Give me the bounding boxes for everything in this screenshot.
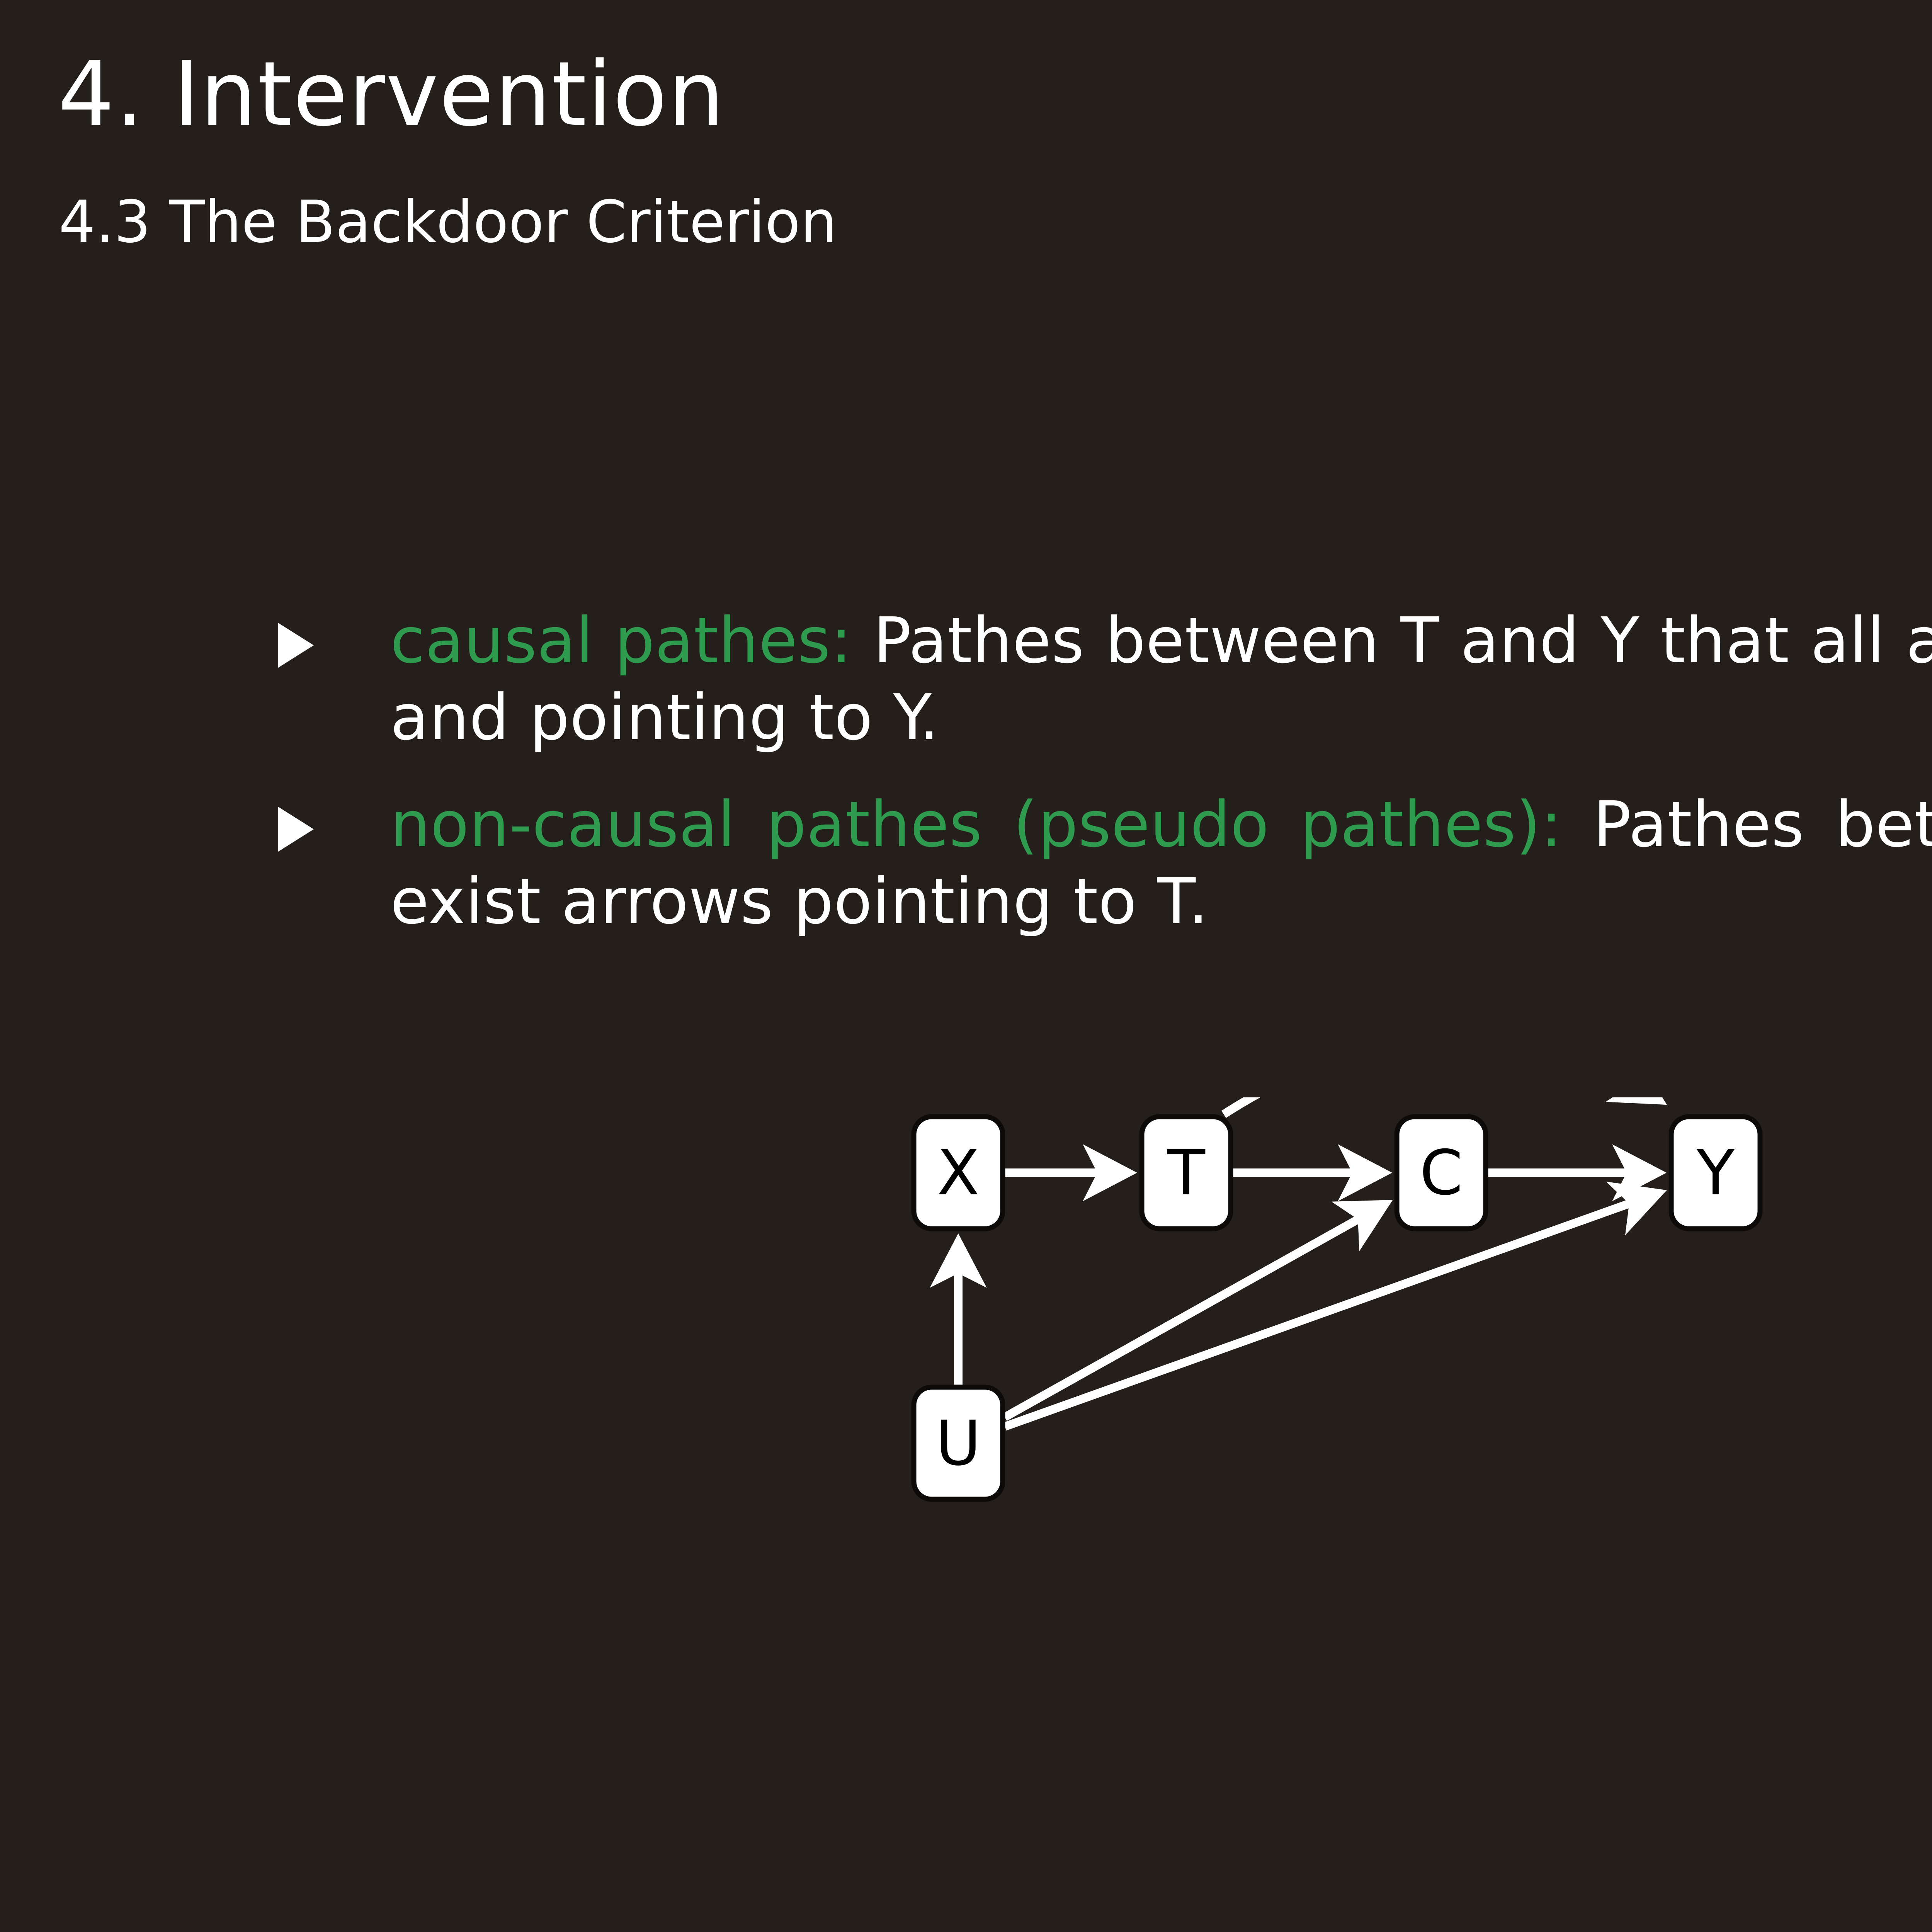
- dag-edge-t-to-y: [1224, 1097, 1660, 1114]
- dag-node-label: U: [935, 1407, 981, 1480]
- dag-edges: [958, 1097, 1660, 1427]
- triangle-bullet-icon: [278, 807, 314, 852]
- dag-edge-u-to-y: [1005, 1193, 1659, 1427]
- bullet-term: non-causal pathes (pseudo pathes):: [390, 788, 1562, 861]
- bullet-list: causal pathes: Pathes between T and Y th…: [278, 603, 1932, 970]
- dag-node-label: T: [1167, 1137, 1206, 1209]
- dag-node-y: Y: [1671, 1117, 1760, 1229]
- dag-node-x: X: [914, 1117, 1003, 1229]
- dag-node-label: Y: [1696, 1137, 1735, 1209]
- dag-node-c: C: [1397, 1117, 1486, 1229]
- bullet-term: causal pathes:: [390, 604, 852, 677]
- list-item: causal pathes: Pathes between T and Y th…: [278, 603, 1932, 757]
- dag-node-t: T: [1142, 1117, 1231, 1229]
- dag-node-label: C: [1420, 1137, 1463, 1209]
- bullet-text: causal pathes: Pathes between T and Y th…: [390, 603, 1932, 757]
- slide-header: 4. Intervention 4.3 The Backdoor Criteri…: [0, 0, 1932, 301]
- causal-dag-diagram: XTCYU: [881, 1097, 1870, 1615]
- dag-node-u: U: [914, 1387, 1003, 1499]
- dag-node-label: X: [937, 1137, 980, 1209]
- bullet-text: non-causal pathes (pseudo pathes): Pathe…: [390, 787, 1932, 940]
- list-item: non-causal pathes (pseudo pathes): Pathe…: [278, 787, 1932, 940]
- page-title: 4. Intervention: [58, 50, 725, 139]
- dag-svg: XTCYU: [881, 1097, 1870, 1615]
- page-subtitle: 4.3 The Backdoor Criterion: [59, 193, 837, 251]
- triangle-bullet-icon: [278, 623, 314, 668]
